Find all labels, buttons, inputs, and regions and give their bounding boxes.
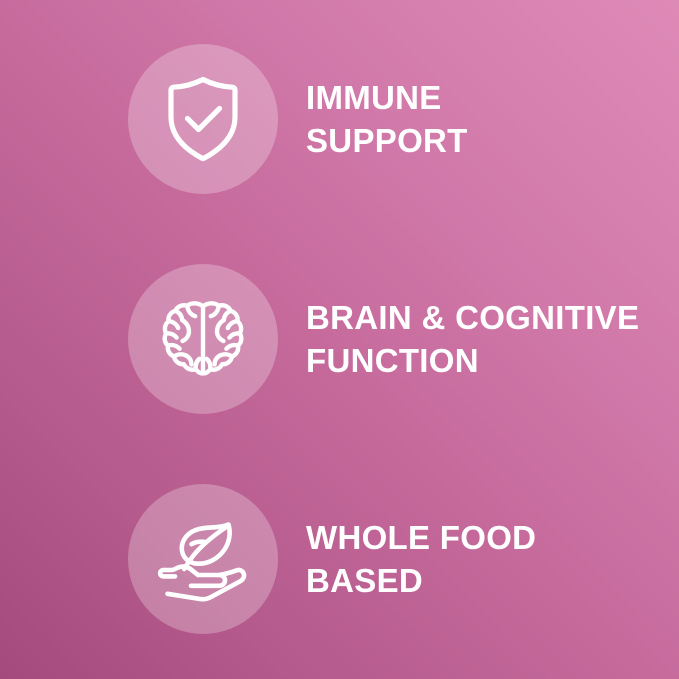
brain-icon-circle	[128, 264, 278, 414]
benefits-list: IMMUNE SUPPORT	[0, 0, 679, 679]
leaf-in-hand-icon	[153, 509, 253, 609]
benefit-label-whole-food-based: WHOLE FOOD BASED	[306, 516, 536, 602]
leaf-in-hand-icon-circle	[128, 484, 278, 634]
benefit-item-immune-support: IMMUNE SUPPORT	[128, 44, 468, 194]
benefits-infographic: IMMUNE SUPPORT	[0, 0, 679, 679]
benefit-label-immune-support: IMMUNE SUPPORT	[306, 76, 468, 162]
benefit-item-whole-food-based: WHOLE FOOD BASED	[128, 484, 536, 634]
shield-check-icon	[155, 71, 251, 167]
shield-check-icon-circle	[128, 44, 278, 194]
brain-icon	[155, 291, 251, 387]
benefit-item-brain-cognitive: BRAIN & COGNITIVE FUNCTION	[128, 264, 639, 414]
benefit-label-brain-cognitive: BRAIN & COGNITIVE FUNCTION	[306, 296, 639, 382]
